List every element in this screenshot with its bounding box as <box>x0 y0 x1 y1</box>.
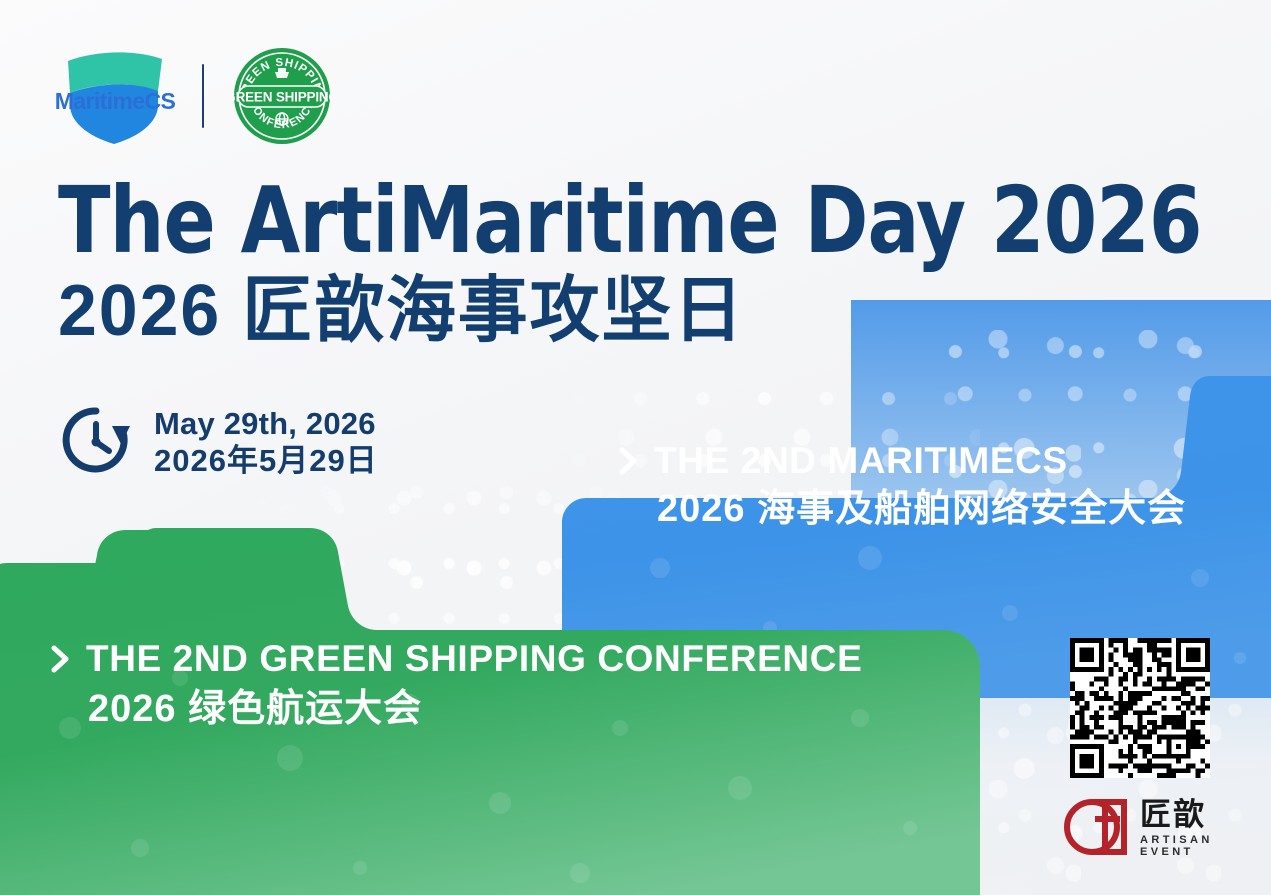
headline-chinese: 2026 匠歆海事攻坚日 <box>58 275 1251 347</box>
maritimecs-wordmark: MaritimeCS <box>55 88 176 114</box>
headline-english: The ArtiMaritime Day 2026 <box>58 176 1201 265</box>
date-english: May 29th, 2026 <box>154 406 378 443</box>
panel-green-shipping-title-en: THE 2ND GREEN SHIPPING CONFERENCE <box>86 638 862 679</box>
poster-canvas: MaritimeCS GREEN SHIPPING CONFERENCE <box>0 0 1271 895</box>
panel-maritimecs-title-cn: 2026 海事及船舶网络安全大会 <box>657 487 1186 532</box>
page-title: The ArtiMaritime Day 2026 2026 匠歆海事攻坚日 <box>58 176 1271 347</box>
chevron-right-icon <box>50 644 70 674</box>
artisan-english: ARTISAN EVENT <box>1140 834 1271 858</box>
logo-divider <box>202 64 204 128</box>
panel-maritimecs-title-en: THE 2ND MARITIMECS <box>654 440 1068 481</box>
green-shipping-conference-logo[interactable]: GREEN SHIPPING CONFERENCE GREEN SHIPPIN <box>232 46 332 146</box>
date-chinese: 2026年5月29日 <box>154 443 378 480</box>
artisan-event-logo[interactable]: 匠歆 ARTISAN EVENT <box>1062 793 1271 864</box>
panel-maritimecs-text: THE 2ND MARITIMECS 2026 海事及船舶网络安全大会 <box>618 440 1186 532</box>
artisan-chinese: 匠歆 <box>1140 799 1271 830</box>
qr-code-image <box>1070 638 1210 778</box>
qr-code[interactable] <box>1070 638 1210 778</box>
maritimecs-logo[interactable]: MaritimeCS <box>54 47 176 145</box>
chevron-right-icon <box>618 446 638 476</box>
clock-arrow-icon <box>60 404 132 481</box>
event-date: May 29th, 2026 2026年5月29日 <box>60 404 378 481</box>
panel-green-shipping-text: THE 2ND GREEN SHIPPING CONFERENCE 2026 绿… <box>50 638 862 732</box>
logo-bar: MaritimeCS GREEN SHIPPING CONFERENCE <box>54 46 332 146</box>
panel-green-shipping-title-cn: 2026 绿色航运大会 <box>88 687 862 732</box>
gsc-band-text: GREEN SHIPPING <box>232 90 332 105</box>
artisan-mark-icon <box>1062 793 1134 864</box>
panel-green-shipping[interactable]: THE 2ND GREEN SHIPPING CONFERENCE 2026 绿… <box>0 528 980 895</box>
